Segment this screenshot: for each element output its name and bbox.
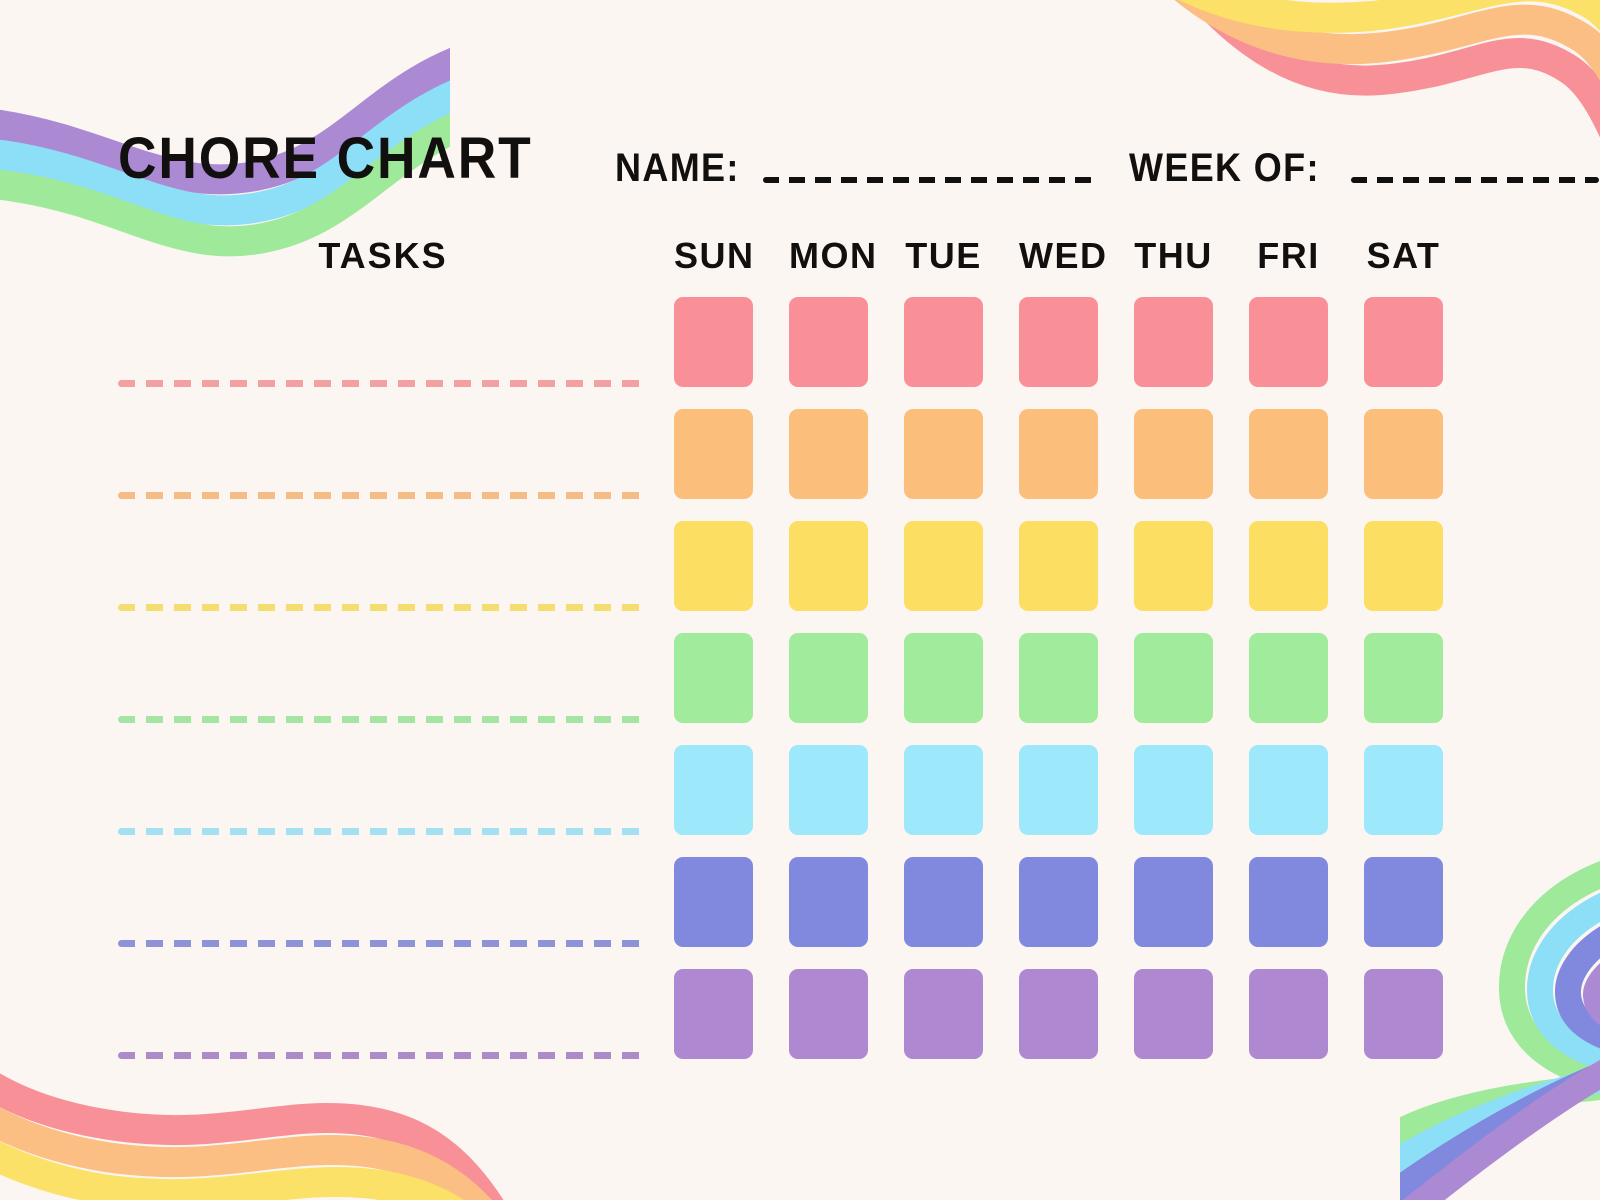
chore-cell-wed[interactable] [1019,521,1098,611]
chore-cell-fri[interactable] [1249,521,1328,611]
chore-cell-fri[interactable] [1249,857,1328,947]
chore-cell-sun[interactable] [674,633,753,723]
chore-cell-fri[interactable] [1249,745,1328,835]
task-name-input[interactable] [118,716,646,723]
chore-cell-sat[interactable] [1364,409,1443,499]
chore-chart-page: CHORE CHART NAME: WEEK OF: TASKS SUNMONT… [0,0,1600,1200]
chore-cell-mon[interactable] [789,409,868,499]
chore-row [0,297,1600,409]
chore-cell-thu[interactable] [1134,633,1213,723]
chore-cell-thu[interactable] [1134,745,1213,835]
chore-cell-sun[interactable] [674,745,753,835]
task-name-input[interactable] [118,604,646,611]
chore-cell-mon[interactable] [789,745,868,835]
chore-cell-sat[interactable] [1364,297,1443,387]
chore-cell-thu[interactable] [1134,857,1213,947]
chore-cell-wed[interactable] [1019,297,1098,387]
chore-grid [0,0,1600,1200]
chore-cell-wed[interactable] [1019,969,1098,1059]
chore-row [0,745,1600,857]
chore-cell-mon[interactable] [789,521,868,611]
chore-cell-fri[interactable] [1249,633,1328,723]
chore-cell-tue[interactable] [904,969,983,1059]
chore-cell-wed[interactable] [1019,857,1098,947]
chore-cell-wed[interactable] [1019,409,1098,499]
chore-cell-mon[interactable] [789,857,868,947]
chore-cell-tue[interactable] [904,521,983,611]
chore-cell-wed[interactable] [1019,633,1098,723]
chore-cell-sun[interactable] [674,409,753,499]
chore-cell-tue[interactable] [904,745,983,835]
chore-cell-sat[interactable] [1364,969,1443,1059]
chore-cell-sat[interactable] [1364,521,1443,611]
chore-cell-tue[interactable] [904,633,983,723]
task-name-input[interactable] [118,940,646,947]
chore-row [0,521,1600,633]
chore-row [0,633,1600,745]
task-name-input[interactable] [118,828,646,835]
chore-cell-sun[interactable] [674,857,753,947]
chore-cell-fri[interactable] [1249,409,1328,499]
chore-cell-wed[interactable] [1019,745,1098,835]
chore-cell-thu[interactable] [1134,521,1213,611]
chore-cell-mon[interactable] [789,969,868,1059]
chore-row [0,969,1600,1081]
chore-cell-sat[interactable] [1364,633,1443,723]
chore-row [0,857,1600,969]
chore-cell-sat[interactable] [1364,857,1443,947]
chore-cell-tue[interactable] [904,297,983,387]
task-name-input[interactable] [118,492,646,499]
chore-cell-sun[interactable] [674,297,753,387]
chore-cell-thu[interactable] [1134,969,1213,1059]
chore-cell-fri[interactable] [1249,969,1328,1059]
chore-cell-sat[interactable] [1364,745,1443,835]
chore-cell-thu[interactable] [1134,297,1213,387]
chore-cell-sun[interactable] [674,521,753,611]
chore-cell-thu[interactable] [1134,409,1213,499]
chore-cell-mon[interactable] [789,633,868,723]
task-name-input[interactable] [118,380,646,387]
chore-cell-tue[interactable] [904,857,983,947]
chore-row [0,409,1600,521]
chore-cell-mon[interactable] [789,297,868,387]
chore-cell-fri[interactable] [1249,297,1328,387]
task-name-input[interactable] [118,1052,646,1059]
chore-cell-tue[interactable] [904,409,983,499]
chore-cell-sun[interactable] [674,969,753,1059]
